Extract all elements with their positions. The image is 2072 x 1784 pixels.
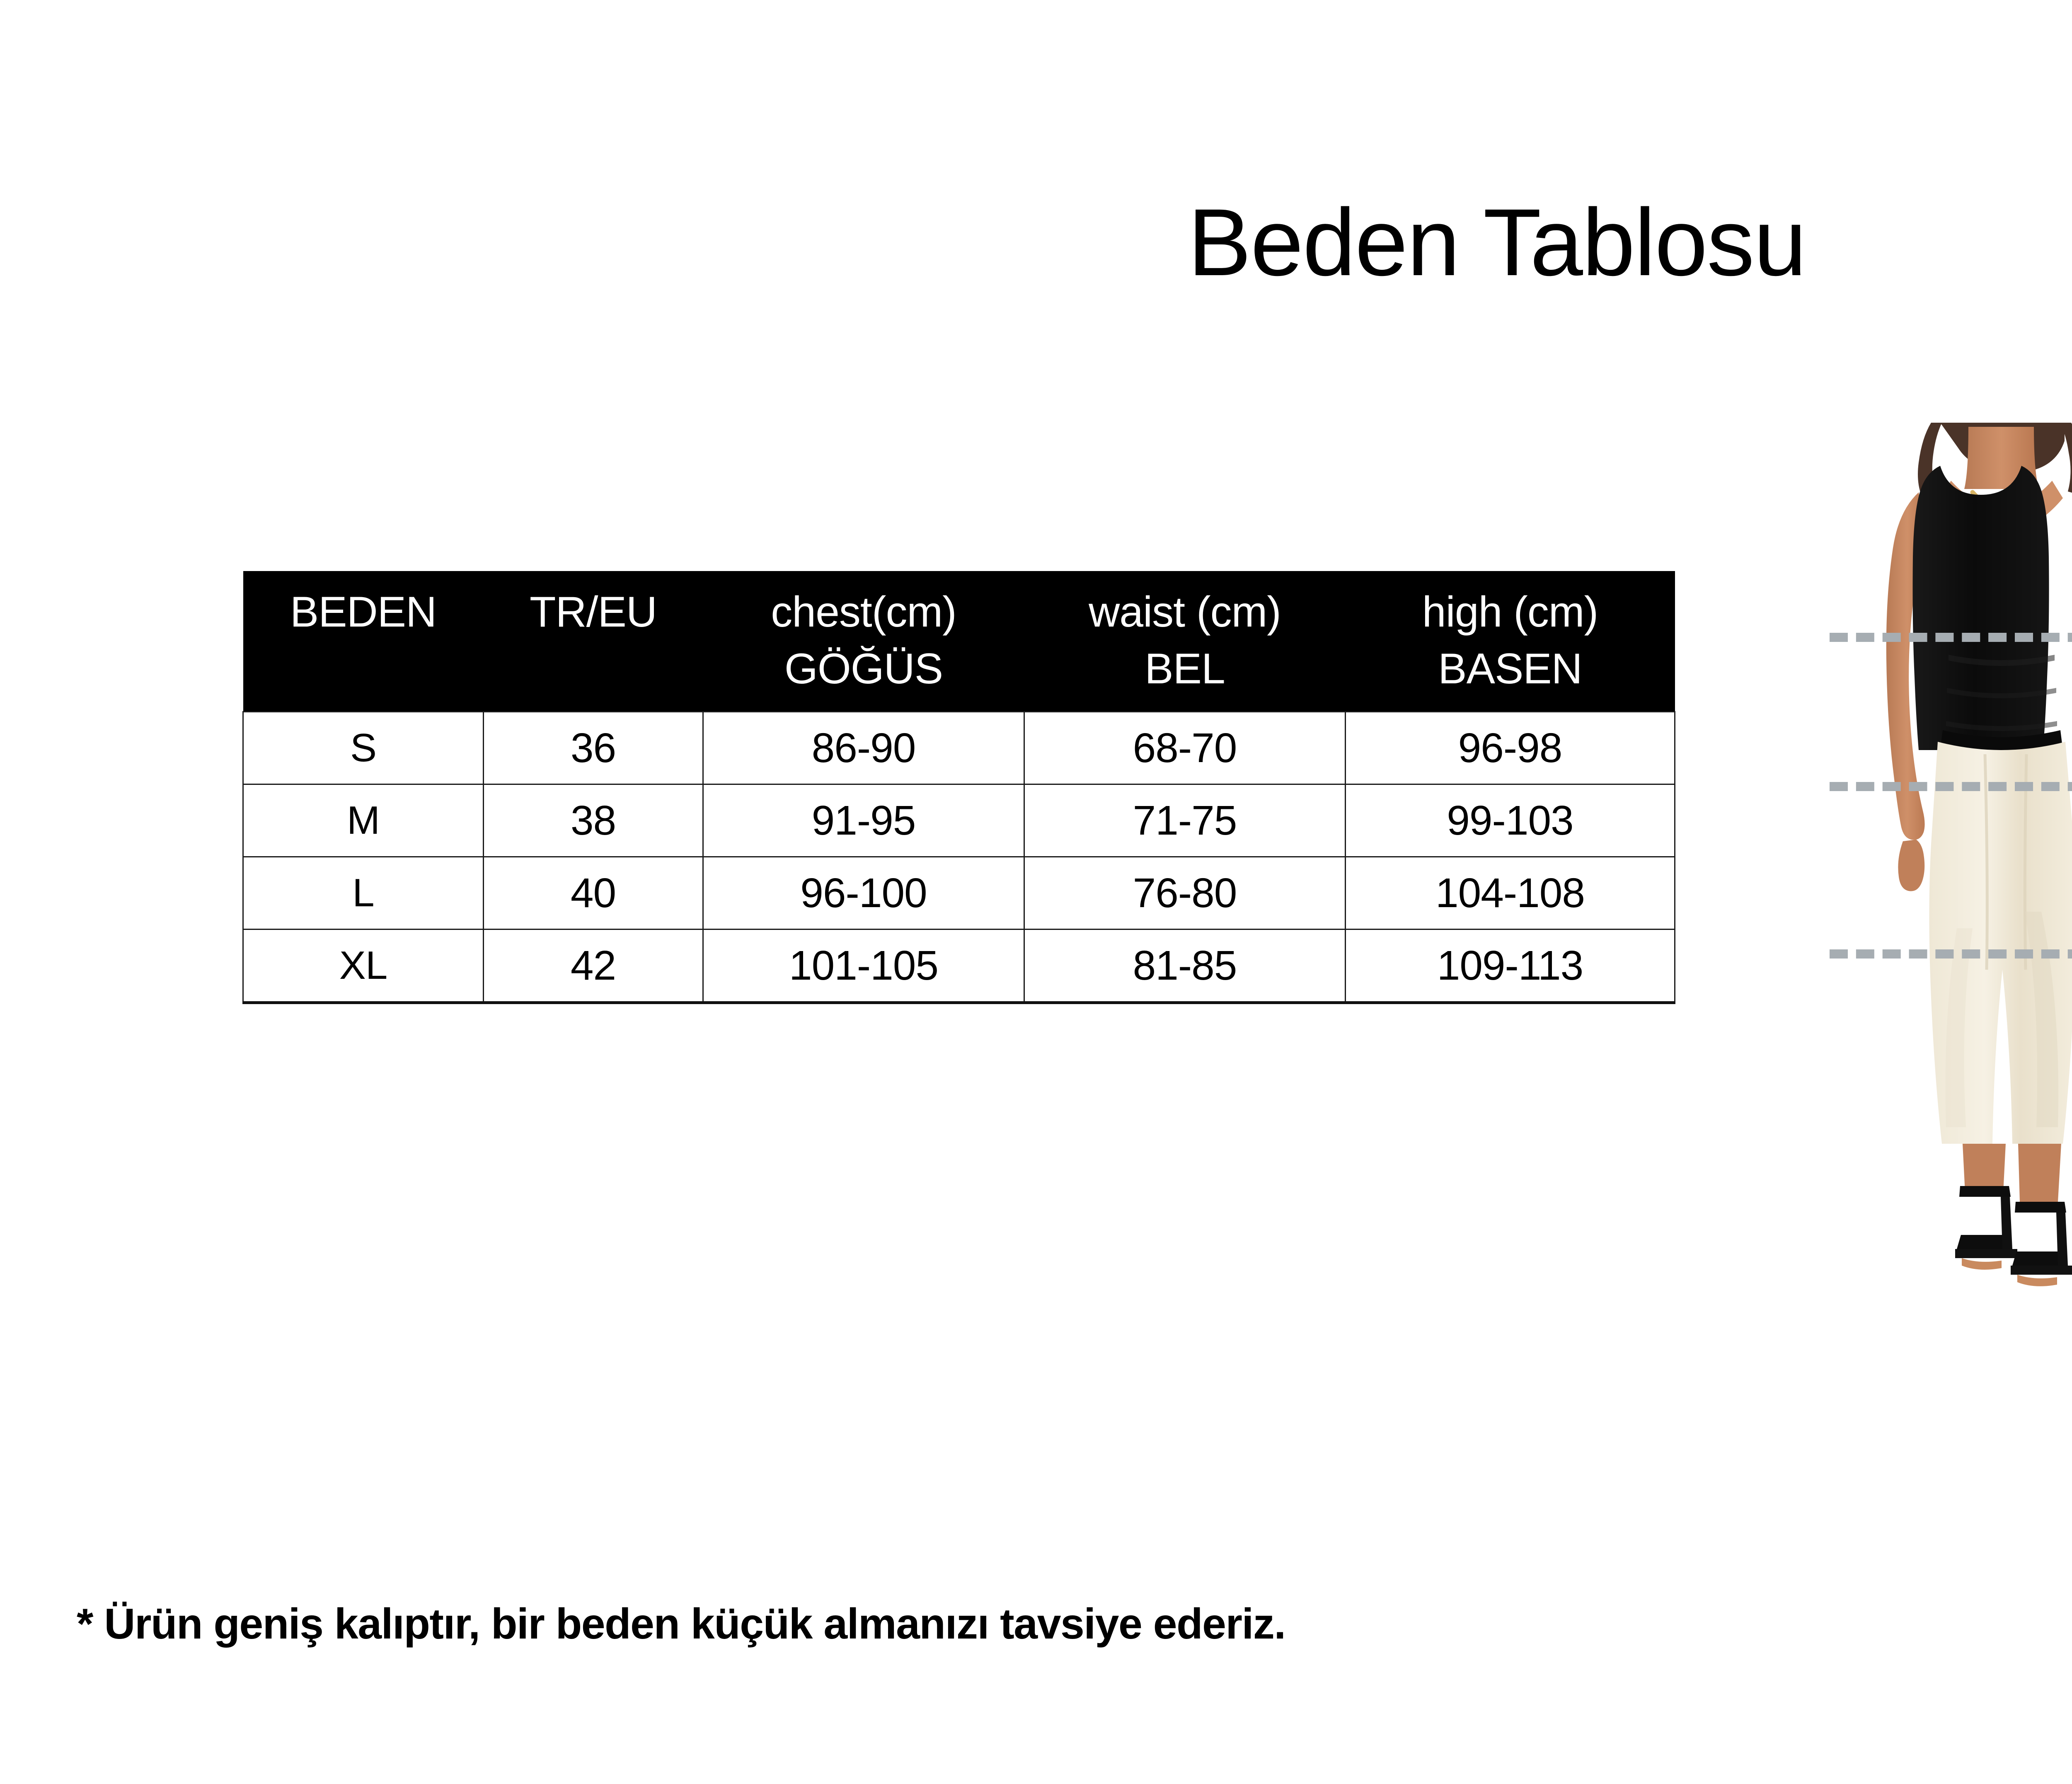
cell-treu: 36 (484, 712, 703, 784)
cell-chest: 86-90 (703, 712, 1024, 784)
model-photo (1794, 423, 2072, 1587)
cell-beden: L (243, 857, 484, 930)
black-top (1913, 466, 2049, 750)
col-subheader-treu (484, 641, 703, 712)
table-row: XL 42 101-105 81-85 109-113 (243, 930, 1675, 1003)
col-header-beden: BEDEN (243, 571, 484, 641)
table-row: S 36 86-90 68-70 96-98 (243, 712, 1675, 784)
table-header-row-main: BEDEN TR/EU chest(cm) waist (cm) high (c… (243, 571, 1675, 641)
cell-beden: XL (243, 930, 484, 1003)
left-sandal (1955, 1186, 2017, 1270)
col-header-waist: waist (cm) (1024, 571, 1346, 641)
col-header-chest: chest(cm) (703, 571, 1024, 641)
measure-arrow-chest-icon (1830, 629, 2072, 640)
right-sandal (2011, 1202, 2072, 1286)
cell-high: 109-113 (1346, 930, 1675, 1003)
footnote-text: * Ürün geniş kalıptır, bir beden küçük a… (77, 1600, 1285, 1649)
measure-arrow-hip-icon (1830, 946, 2072, 956)
cell-chest: 96-100 (703, 857, 1024, 930)
cell-waist: 71-75 (1024, 784, 1346, 857)
cell-chest: 101-105 (703, 930, 1024, 1003)
cell-beden: M (243, 784, 484, 857)
table-header-row-sub: GÖĞÜS BEL BASEN (243, 641, 1675, 712)
col-header-treu: TR/EU (484, 571, 703, 641)
measure-arrow-waist-icon (1830, 778, 2072, 789)
col-subheader-beden (243, 641, 484, 712)
cell-high: 96-98 (1346, 712, 1675, 784)
col-header-high: high (cm) (1346, 571, 1675, 641)
col-subheader-basen: BASEN (1346, 641, 1675, 712)
cell-chest: 91-95 (703, 784, 1024, 857)
dashed-line (1830, 949, 2072, 959)
cell-waist: 76-80 (1024, 857, 1346, 930)
table-header: BEDEN TR/EU chest(cm) waist (cm) high (c… (243, 571, 1675, 712)
page-title: Beden Tablosu (0, 195, 2072, 290)
cell-waist: 81-85 (1024, 930, 1346, 1003)
size-chart-table: BEDEN TR/EU chest(cm) waist (cm) high (c… (242, 571, 1675, 1004)
table-row: M 38 91-95 71-75 99-103 (243, 784, 1675, 857)
cell-beden: S (243, 712, 484, 784)
cell-treu: 38 (484, 784, 703, 857)
cell-treu: 40 (484, 857, 703, 930)
cell-treu: 42 (484, 930, 703, 1003)
cell-high: 104-108 (1346, 857, 1675, 930)
dashed-line (1830, 633, 2072, 642)
table-body: S 36 86-90 68-70 96-98 M 38 91-95 71-75 … (243, 712, 1675, 1003)
col-subheader-bel: BEL (1024, 641, 1346, 712)
table-row: L 40 96-100 76-80 104-108 (243, 857, 1675, 930)
cell-high: 99-103 (1346, 784, 1675, 857)
dashed-line (1830, 782, 2072, 791)
col-subheader-gogus: GÖĞÜS (703, 641, 1024, 712)
cell-waist: 68-70 (1024, 712, 1346, 784)
